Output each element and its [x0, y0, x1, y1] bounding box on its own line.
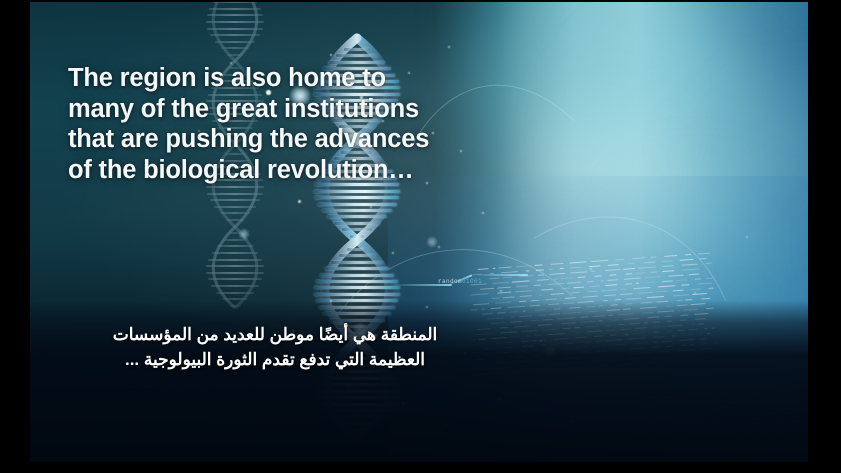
headline-line: of the biological revolution… [68, 155, 498, 186]
particle-dot [500, 290, 502, 292]
particle-dot [626, 334, 628, 336]
letterbox-bar-bottom [0, 462, 841, 473]
letterbox-bar-left [0, 0, 30, 473]
particle-dot [720, 378, 722, 380]
particle-dot [446, 424, 448, 426]
particle-glow [238, 228, 250, 240]
caption-arabic: المنطقة هي أيضًا موطن للعديد من المؤسسات… [70, 322, 480, 372]
headline-line: The region is also home to [68, 63, 498, 94]
presentation-slide: random01001 The region is also home to m… [0, 0, 841, 473]
particle-glow [543, 345, 557, 359]
particle-glow [426, 236, 438, 248]
particle-dot [402, 402, 405, 405]
particle-dot [370, 206, 372, 208]
letterbox-bar-top [0, 0, 841, 2]
particle-dot [482, 212, 484, 214]
particle-dot [590, 268, 592, 270]
particle-dot [540, 340, 542, 342]
particle-dot [330, 54, 332, 56]
particle-dot [448, 46, 450, 48]
letterbox-bar-right [808, 0, 841, 473]
particle-dot [438, 246, 440, 248]
headline-line: that are pushing the advances [68, 124, 498, 155]
particle-dot [746, 236, 748, 238]
caption-line: العظيمة التي تدفع تقدم الثورة البيولوجية… [70, 347, 480, 372]
caption-line: المنطقة هي أيضًا موطن للعديد من المؤسسات [70, 322, 480, 347]
headline-english: The region is also home to many of the g… [68, 63, 498, 185]
particle-dot [426, 306, 428, 308]
slide-artwork: random01001 The region is also home to m… [30, 0, 808, 462]
particle-dot [298, 200, 301, 203]
headline-line: many of the great institutions [68, 94, 498, 125]
particle-dot [694, 292, 696, 294]
